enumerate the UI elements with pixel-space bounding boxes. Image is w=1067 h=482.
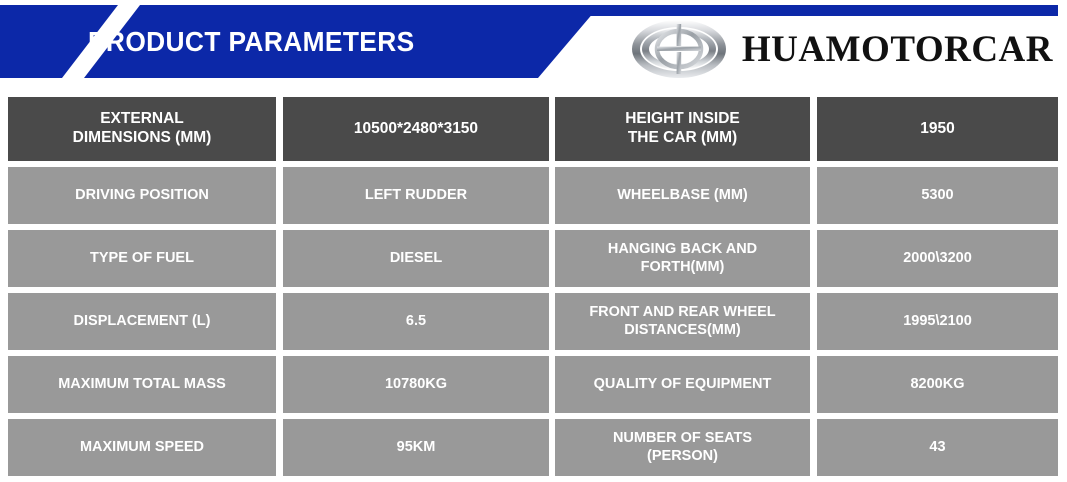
parameter-label: FRONT AND REAR WHEEL DISTANCES(MM) bbox=[555, 293, 810, 350]
parameter-value: DIESEL bbox=[283, 230, 549, 287]
parameter-label: QUALITY OF EQUIPMENT bbox=[555, 356, 810, 413]
parameter-label-text: DRIVING POSITION bbox=[75, 187, 209, 205]
parameter-label: DISPLACEMENT (L) bbox=[8, 293, 276, 350]
parameter-label-text: HEIGHT INSIDE THE CAR (MM) bbox=[625, 110, 740, 148]
chrome-oval-emblem-icon bbox=[630, 18, 728, 80]
parameter-label-text: WHEELBASE (MM) bbox=[617, 187, 748, 205]
parameter-label-text: DISPLACEMENT (L) bbox=[74, 313, 211, 331]
parameter-value-text: DIESEL bbox=[390, 250, 442, 268]
table-row: EXTERNAL DIMENSIONS (MM) 10500*2480*3150… bbox=[8, 97, 1058, 161]
parameter-value: LEFT RUDDER bbox=[283, 167, 549, 224]
table-row: TYPE OF FUEL DIESEL HANGING BACK AND FOR… bbox=[8, 230, 1058, 287]
parameter-label: MAXIMUM SPEED bbox=[8, 419, 276, 476]
parameter-label: HANGING BACK AND FORTH(MM) bbox=[555, 230, 810, 287]
parameter-value-text: 95KM bbox=[397, 439, 436, 457]
parameter-value-text: 6.5 bbox=[406, 313, 426, 331]
parameter-label-text: EXTERNAL DIMENSIONS (MM) bbox=[73, 110, 212, 148]
page-header: PRODUCT PARAMETERS bbox=[0, 0, 1067, 95]
parameter-value: 1995\2100 bbox=[817, 293, 1058, 350]
parameter-label-text: FRONT AND REAR WHEEL DISTANCES(MM) bbox=[589, 304, 775, 339]
parameter-label: EXTERNAL DIMENSIONS (MM) bbox=[8, 97, 276, 161]
parameter-label: TYPE OF FUEL bbox=[8, 230, 276, 287]
table-row: MAXIMUM SPEED 95KM NUMBER OF SEATS (PERS… bbox=[8, 419, 1058, 476]
parameter-value: 6.5 bbox=[283, 293, 549, 350]
parameter-value: 10780KG bbox=[283, 356, 549, 413]
parameter-value-text: 1950 bbox=[920, 120, 954, 139]
parameter-value: 95KM bbox=[283, 419, 549, 476]
parameter-value: 10500*2480*3150 bbox=[283, 97, 549, 161]
parameter-label: WHEELBASE (MM) bbox=[555, 167, 810, 224]
parameter-label: MAXIMUM TOTAL MASS bbox=[8, 356, 276, 413]
parameter-label-text: MAXIMUM TOTAL MASS bbox=[58, 376, 226, 394]
parameter-value: 5300 bbox=[817, 167, 1058, 224]
parameter-value: 8200KG bbox=[817, 356, 1058, 413]
parameter-value-text: 5300 bbox=[921, 187, 953, 205]
parameter-label: DRIVING POSITION bbox=[8, 167, 276, 224]
parameter-label-text: QUALITY OF EQUIPMENT bbox=[594, 376, 772, 394]
brand-name: HUAMOTORCAR bbox=[742, 28, 1053, 71]
parameter-value-text: 10780KG bbox=[385, 376, 447, 394]
parameter-value-text: 43 bbox=[929, 439, 945, 457]
parameter-label-text: NUMBER OF SEATS (PERSON) bbox=[613, 430, 752, 465]
parameter-value: 2000\3200 bbox=[817, 230, 1058, 287]
parameter-value-text: 8200KG bbox=[910, 376, 964, 394]
product-parameters-table: EXTERNAL DIMENSIONS (MM) 10500*2480*3150… bbox=[8, 97, 1058, 482]
parameter-value: 43 bbox=[817, 419, 1058, 476]
parameter-label-text: TYPE OF FUEL bbox=[90, 250, 194, 268]
table-row: DRIVING POSITION LEFT RUDDER WHEELBASE (… bbox=[8, 167, 1058, 224]
parameter-value-text: LEFT RUDDER bbox=[365, 187, 467, 205]
parameter-value-text: 1995\2100 bbox=[903, 313, 972, 331]
page-title: PRODUCT PARAMETERS bbox=[88, 26, 415, 58]
parameter-label: HEIGHT INSIDE THE CAR (MM) bbox=[555, 97, 810, 161]
parameter-label-text: HANGING BACK AND FORTH(MM) bbox=[608, 241, 757, 276]
parameter-value: 1950 bbox=[817, 97, 1058, 161]
table-row: MAXIMUM TOTAL MASS 10780KG QUALITY OF EQ… bbox=[8, 356, 1058, 413]
parameter-value-text: 10500*2480*3150 bbox=[354, 120, 478, 139]
table-row: DISPLACEMENT (L) 6.5 FRONT AND REAR WHEE… bbox=[8, 293, 1058, 350]
brand-logo: HUAMOTORCAR bbox=[630, 18, 1053, 80]
parameter-value-text: 2000\3200 bbox=[903, 250, 972, 268]
parameter-label: NUMBER OF SEATS (PERSON) bbox=[555, 419, 810, 476]
parameter-label-text: MAXIMUM SPEED bbox=[80, 439, 204, 457]
